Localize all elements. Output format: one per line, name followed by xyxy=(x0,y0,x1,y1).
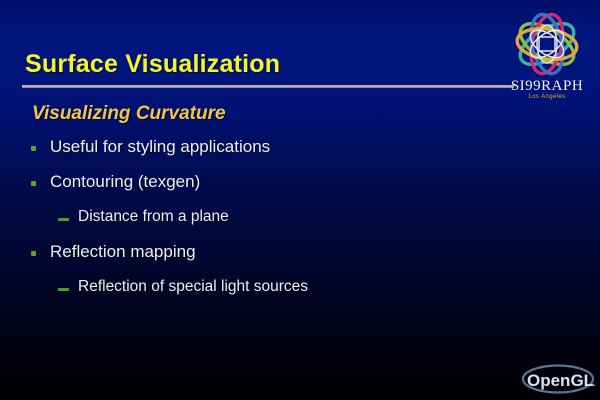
dash-bullet-icon xyxy=(58,218,69,221)
siggraph-rings-icon xyxy=(503,8,591,80)
opengl-ellipse-icon: OpenGL . xyxy=(520,362,600,396)
list-item: Reflection of special light sources xyxy=(0,276,520,311)
list-item: Contouring (texgen) xyxy=(0,171,520,206)
presentation-slide: Surface Visualization Visualizing Curvat… xyxy=(0,0,600,400)
siggraph-wordmark: SI99RAPH xyxy=(497,78,597,95)
list-item: Useful for styling applications xyxy=(0,136,520,171)
bullet-list: Useful for styling applications Contouri… xyxy=(0,136,520,311)
siggraph-logo: SI99RAPH Los Angeles xyxy=(497,8,597,104)
opengl-logo: OpenGL . xyxy=(520,362,600,396)
dash-bullet-icon xyxy=(58,288,69,291)
title-divider-rule xyxy=(22,85,514,88)
square-bullet-icon xyxy=(31,146,36,151)
list-item: Distance from a plane xyxy=(0,206,520,241)
svg-text:OpenGL: OpenGL xyxy=(527,371,594,390)
square-bullet-icon xyxy=(31,251,36,256)
slide-subtitle: Visualizing Curvature xyxy=(32,103,226,125)
list-item-label: Contouring (texgen) xyxy=(50,172,200,191)
square-bullet-icon xyxy=(31,181,36,186)
list-item-label: Reflection of special light sources xyxy=(78,278,308,295)
list-item: Reflection mapping xyxy=(0,241,520,276)
slide-title: Surface Visualization xyxy=(25,50,280,79)
list-item-label: Distance from a plane xyxy=(78,208,229,225)
siggraph-city-label: Los Angeles xyxy=(497,94,597,100)
list-item-label: Useful for styling applications xyxy=(50,137,270,156)
list-item-label: Reflection mapping xyxy=(50,242,196,261)
svg-text:.: . xyxy=(593,375,596,389)
